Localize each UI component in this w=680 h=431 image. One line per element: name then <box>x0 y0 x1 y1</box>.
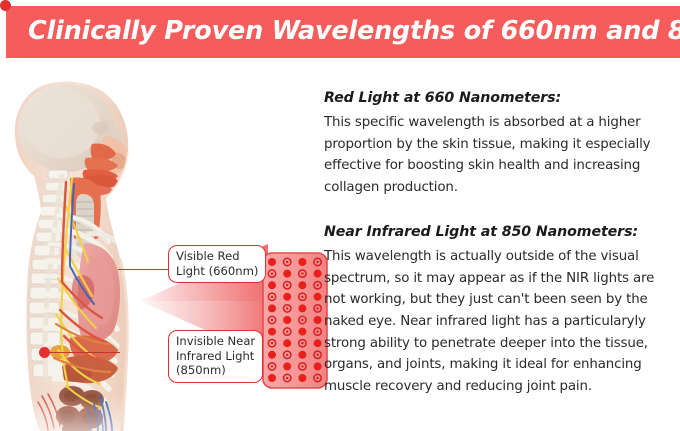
led-solid <box>283 316 291 324</box>
led-ring-center <box>301 272 303 274</box>
led-solid <box>283 270 291 278</box>
led-solid <box>268 374 276 382</box>
led-solid <box>268 351 276 359</box>
section-heading: Near Infrared Light at 850 Nanometers: <box>324 224 676 240</box>
led-ring-center <box>286 377 288 379</box>
marker-dot-chest <box>0 0 11 11</box>
led-solid <box>298 351 306 359</box>
led-ring-center <box>301 365 303 367</box>
led-solid <box>283 339 291 347</box>
callout-visible-red[interactable]: Visible Red Light (660nm) <box>168 245 266 283</box>
callout-line: Light (660nm) <box>176 264 258 279</box>
led-ring-center <box>316 377 318 379</box>
led-solid <box>268 304 276 312</box>
led-ring-center <box>316 284 318 286</box>
led-ring-center <box>271 296 273 298</box>
callout-invisible-nir[interactable]: Invisible Near Infrared Light (850nm) <box>168 330 263 383</box>
led-solid <box>298 328 306 336</box>
led-solid <box>314 316 322 324</box>
infographic-page: Clinically Proven Wavelengths of 660nm a… <box>0 0 680 431</box>
led-solid <box>298 304 306 312</box>
led-ring-center <box>286 354 288 356</box>
led-solid <box>314 362 322 370</box>
anatomy-illustration <box>0 66 190 431</box>
led-ring-center <box>286 307 288 309</box>
led-solid <box>298 258 306 266</box>
led-solid <box>283 293 291 301</box>
section-body: This specific wavelength is absorbed at … <box>324 112 676 199</box>
section-red-light: Red Light at 660 Nanometers: This specif… <box>324 90 676 199</box>
led-solid <box>298 374 306 382</box>
led-solid <box>283 362 291 370</box>
callout-line: (850nm) <box>176 363 255 378</box>
led-ring-center <box>316 261 318 263</box>
led-ring-center <box>286 261 288 263</box>
led-ring-center <box>316 354 318 356</box>
callout-line: Invisible Near <box>176 334 255 349</box>
led-solid <box>268 281 276 289</box>
led-solid <box>314 270 322 278</box>
led-ring-center <box>271 272 273 274</box>
led-ring-center <box>316 307 318 309</box>
led-ring-center <box>301 319 303 321</box>
leader-line-red <box>118 269 170 270</box>
led-ring-center <box>271 365 273 367</box>
led-array-panel <box>262 252 328 389</box>
section-heading: Red Light at 660 Nanometers: <box>324 90 676 106</box>
callout-line: Visible Red <box>176 249 258 264</box>
led-ring-center <box>271 342 273 344</box>
page-title: Clinically Proven Wavelengths of 660nm a… <box>28 19 680 45</box>
header-banner: Clinically Proven Wavelengths of 660nm a… <box>6 6 680 58</box>
led-ring-center <box>286 330 288 332</box>
led-solid <box>298 281 306 289</box>
led-ring-center <box>286 284 288 286</box>
led-solid <box>268 328 276 336</box>
led-ring-center <box>316 330 318 332</box>
led-ring-center <box>301 296 303 298</box>
led-ring-center <box>271 319 273 321</box>
callout-line: Infrared Light <box>176 349 255 364</box>
text-column: Red Light at 660 Nanometers: This specif… <box>324 90 676 398</box>
led-solid <box>268 258 276 266</box>
section-body: This wavelength is actually outside of t… <box>324 246 676 398</box>
led-ring-center <box>301 342 303 344</box>
section-near-infrared: Near Infrared Light at 850 Nanometers: T… <box>324 224 676 398</box>
led-solid <box>314 339 322 347</box>
leader-line-nir <box>48 352 120 353</box>
led-solid <box>314 293 322 301</box>
